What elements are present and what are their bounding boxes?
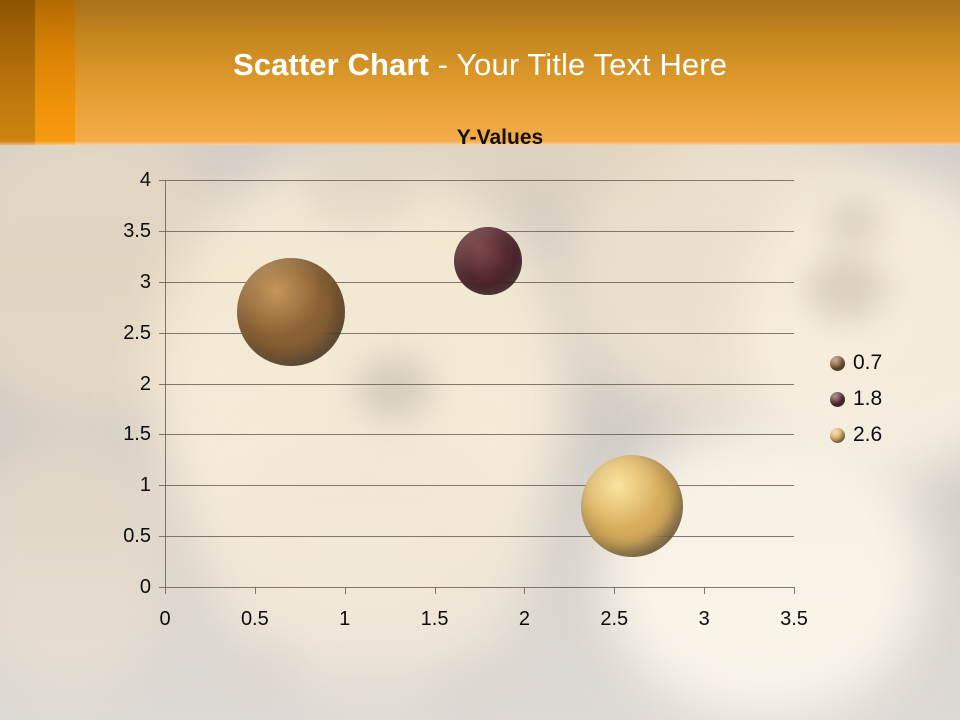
slide-title: Scatter Chart - Your Title Text Here	[0, 48, 960, 82]
x-axis-tick	[435, 587, 436, 594]
legend-label: 0.7	[853, 348, 882, 378]
y-axis-label: 0.5	[99, 526, 151, 546]
slide-title-rest: - Your Title Text Here	[429, 47, 727, 82]
legend-marker-icon	[830, 392, 845, 407]
x-axis-tick	[704, 587, 705, 594]
chart-bubble[interactable]	[454, 227, 522, 295]
chart-bubble[interactable]	[237, 258, 345, 366]
legend-marker-icon	[830, 356, 845, 371]
legend-item[interactable]: 1.8	[830, 384, 950, 420]
y-axis-tick	[159, 434, 165, 435]
x-axis-label: 1.5	[405, 609, 465, 629]
legend-item[interactable]: 0.7	[830, 348, 950, 384]
y-axis-tick	[159, 180, 165, 181]
y-axis-tick	[159, 333, 165, 334]
x-axis-label: 0	[135, 609, 195, 629]
x-axis-label: 2.5	[584, 609, 644, 629]
gridline-horizontal	[165, 434, 794, 435]
legend-marker-icon	[830, 428, 845, 443]
x-axis-label: 3.5	[764, 609, 824, 629]
legend-label: 1.8	[853, 384, 882, 414]
y-axis-tick	[159, 485, 165, 486]
x-axis-tick	[255, 587, 256, 594]
chart-title: Y-Values	[220, 126, 780, 150]
y-axis-label: 3	[99, 272, 151, 292]
gridline-horizontal	[165, 587, 794, 588]
legend-label: 2.6	[853, 420, 882, 450]
x-axis-label: 0.5	[225, 609, 285, 629]
chart-plot-area: 43.532.521.510.5000.511.522.533.5	[165, 180, 794, 587]
y-axis-label: 1.5	[99, 424, 151, 444]
y-axis-label: 0	[99, 577, 151, 597]
y-axis-tick	[159, 384, 165, 385]
gridline-horizontal	[165, 536, 794, 537]
y-axis-tick	[159, 536, 165, 537]
y-axis-label: 3.5	[99, 221, 151, 241]
bubble-shading	[454, 227, 522, 295]
y-axis-label: 2	[99, 374, 151, 394]
gridline-horizontal	[165, 485, 794, 486]
bubble-shading	[237, 258, 345, 366]
slide-title-bold: Scatter Chart	[233, 47, 429, 82]
x-axis-label: 1	[315, 609, 375, 629]
y-axis-label: 4	[99, 170, 151, 190]
chart-legend: 0.71.82.6	[830, 348, 950, 456]
gridline-horizontal	[165, 384, 794, 385]
y-axis-label: 2.5	[99, 323, 151, 343]
x-axis-tick	[614, 587, 615, 594]
x-axis-tick	[165, 587, 166, 594]
y-axis-tick	[159, 282, 165, 283]
x-axis-label: 3	[674, 609, 734, 629]
y-axis-label: 1	[99, 475, 151, 495]
x-axis-tick	[794, 587, 795, 594]
x-axis-tick	[345, 587, 346, 594]
bubble-shading	[581, 455, 683, 557]
slide-canvas: Scatter Chart - Your Title Text Here Y-V…	[0, 0, 960, 720]
y-axis-tick	[159, 231, 165, 232]
x-axis-tick	[524, 587, 525, 594]
gridline-horizontal	[165, 180, 794, 181]
chart-bubble[interactable]	[581, 455, 683, 557]
x-axis-label: 2	[494, 609, 554, 629]
legend-item[interactable]: 2.6	[830, 420, 950, 456]
